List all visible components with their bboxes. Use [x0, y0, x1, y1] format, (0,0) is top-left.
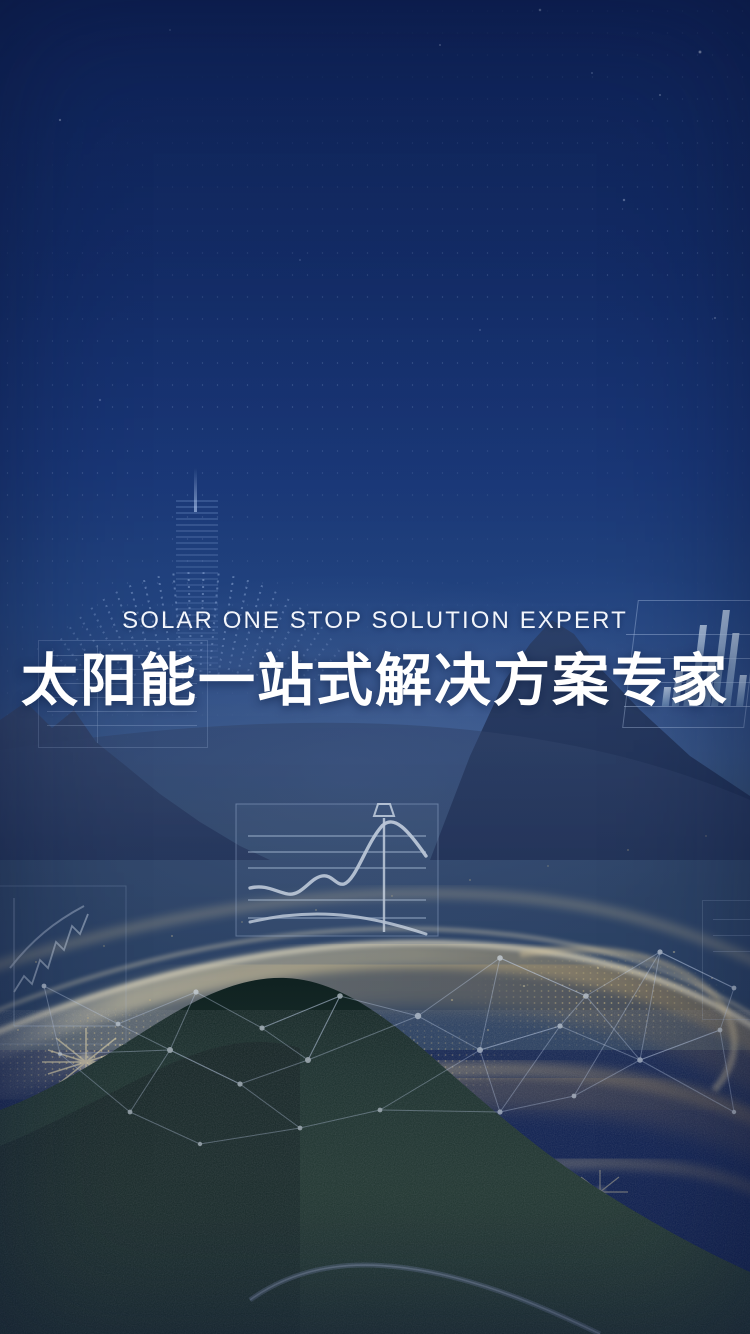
banner-text-block: SOLAR ONE STOP SOLUTION EXPERT 太阳能一站式解决方…	[0, 604, 750, 716]
banner-headline: 太阳能一站式解决方案专家	[0, 646, 750, 716]
banner-eyebrow: SOLAR ONE STOP SOLUTION EXPERT	[0, 604, 750, 638]
network-mesh-overlay	[0, 900, 750, 1180]
tower-spire	[194, 468, 197, 512]
banner-stage: SOLAR ONE STOP SOLUTION EXPERT 太阳能一站式解决方…	[0, 0, 750, 1334]
